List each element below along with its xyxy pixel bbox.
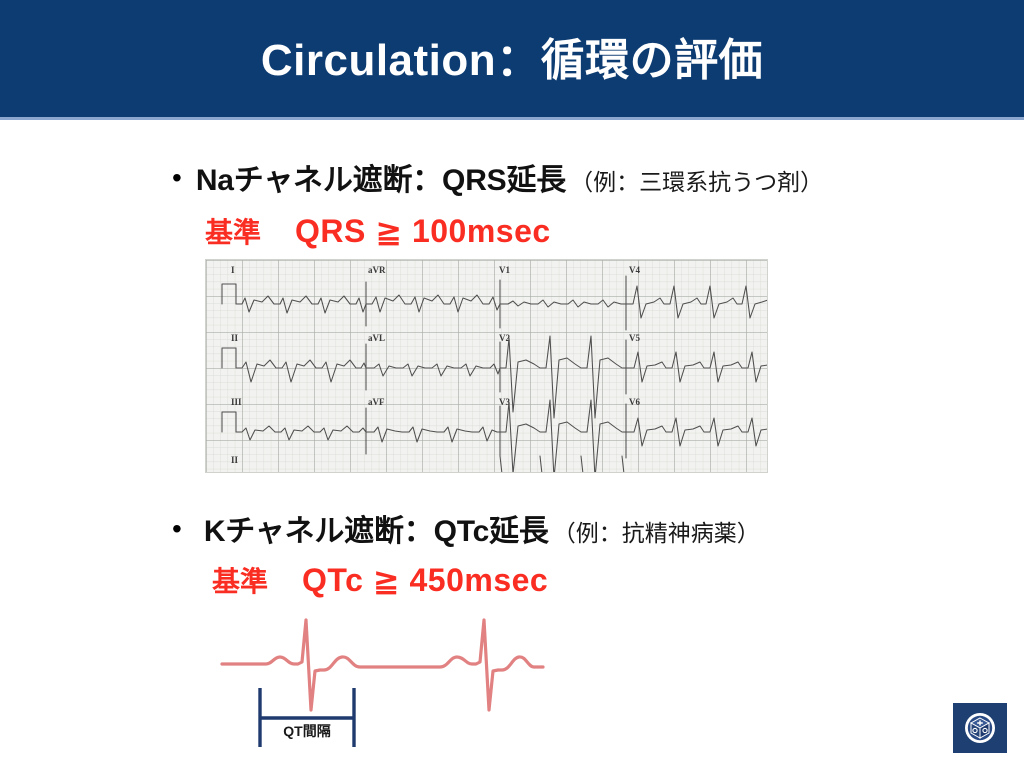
- bullet-marker-icon-2: •: [172, 515, 182, 543]
- criteria-label-qrs: 基準: [205, 211, 261, 251]
- bullet-note-text-na: （例：三環系抗うつ剤）: [570, 163, 823, 197]
- svg-text:I: I: [231, 265, 235, 275]
- bullet-main-text-k: Kチャネル遮断：QTc延長: [204, 506, 549, 550]
- cube-in-circle-icon: [961, 710, 999, 746]
- bullet-main-text-na: Naチャネル遮断：QRS延長: [196, 155, 566, 199]
- svg-text:aVL: aVL: [368, 333, 385, 343]
- bullet-marker-icon: •: [172, 164, 182, 192]
- qt-bracket-label-text: QT間隔: [283, 723, 330, 739]
- svg-text:II: II: [231, 455, 239, 465]
- svg-text:V4: V4: [629, 265, 640, 275]
- criteria-label-qtc: 基準: [212, 560, 268, 600]
- slide-canvas: Circulation：循環の評価 • Naチャネル遮断：QRS延長 （例：三環…: [0, 0, 1024, 768]
- svg-text:aVF: aVF: [368, 397, 385, 407]
- svg-text:V6: V6: [629, 397, 640, 407]
- title-underline-divider: [0, 117, 1024, 120]
- qt-interval-figure: QT間隔: [208, 614, 548, 762]
- bullet-note-text-k: （例：抗精神病薬）: [553, 514, 760, 548]
- bullet-item-na-channel: • Naチャネル遮断：QRS延長 （例：三環系抗うつ剤）: [172, 155, 823, 199]
- svg-text:V5: V5: [629, 333, 640, 343]
- svg-text:V1: V1: [499, 265, 510, 275]
- svg-text:II: II: [231, 333, 239, 343]
- organization-logo: [953, 703, 1007, 753]
- criteria-value-qtc: QTc ≧ 450msec: [302, 561, 548, 599]
- criteria-value-qrs: QRS ≧ 100msec: [295, 212, 551, 250]
- qt-ecg-trace: [222, 620, 543, 710]
- svg-text:III: III: [231, 397, 242, 407]
- page-title: Circulation：循環の評価: [0, 0, 1024, 117]
- bullet-item-k-channel: • Kチャネル遮断：QTc延長 （例：抗精神病薬）: [172, 506, 760, 550]
- criteria-row-qrs: 基準 QRS ≧ 100msec: [205, 211, 551, 251]
- svg-text:aVR: aVR: [368, 265, 386, 275]
- criteria-row-qtc: 基準 QTc ≧ 450msec: [212, 560, 548, 600]
- ecg-12lead-figure: I aVR V1 V4 II aVL V2 V5 III aVF V3 V6 I…: [205, 259, 768, 473]
